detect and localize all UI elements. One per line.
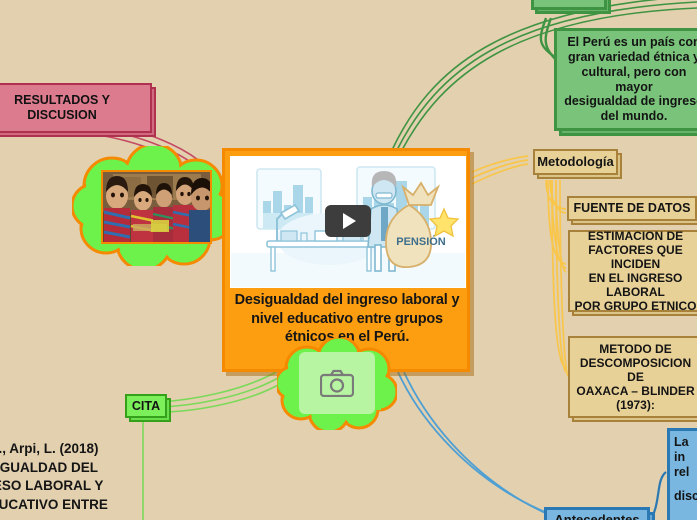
svg-text:PENSIÓN: PENSIÓN <box>396 235 446 248</box>
connector-metodologia-fuente <box>546 180 566 213</box>
blue-note-line-2: in <box>674 450 685 465</box>
antecedentes-label: Antecedentes <box>554 512 639 520</box>
connector-center-metodologia <box>472 156 528 184</box>
top-green-node[interactable] <box>531 0 607 10</box>
citation-line-4: L EDUCATIVO ENTRE <box>0 496 140 515</box>
play-icon[interactable] <box>325 205 371 237</box>
node-metodologia[interactable]: Metodología <box>533 149 618 175</box>
node-blue-note[interactable]: La in rel discr <box>667 428 697 520</box>
cloud-node-photo[interactable] <box>72 146 237 266</box>
estimacion-line-2: FACTORES QUE INCIDEN <box>573 243 697 271</box>
citation-line-1: i, R., Arpi, L. (2018) <box>0 440 140 459</box>
estimacion-line-1: ESTIMACION DE <box>588 229 683 243</box>
estimacion-line-4: POR GRUPO ETNICO <box>574 299 696 313</box>
statement-line-3: cultural, pero con mayor <box>562 65 697 95</box>
cita-label: CITA <box>132 399 160 414</box>
node-estimacion-factores[interactable]: ESTIMACION DE FACTORES QUE INCIDEN EN EL… <box>568 230 697 312</box>
node-antecedentes[interactable]: Antecedentes <box>544 507 650 520</box>
statement-line-1: El Perú es un país con <box>567 35 697 50</box>
cloud-node-image-placeholder[interactable] <box>277 338 397 430</box>
connector-center-cita <box>160 372 280 412</box>
connector-center-antecedentes <box>398 372 552 516</box>
classroom-photo-image <box>103 172 210 242</box>
blue-note-line-1: La <box>674 435 689 450</box>
oaxaca-line-3: OAXACA – BLINDER <box>576 384 694 398</box>
mindmap-canvas[interactable]: RESULTADOS Y DISCUSION <box>0 0 697 520</box>
citation-line-3: GRESO LABORAL Y <box>0 477 140 496</box>
fuente-label: FUENTE DE DATOS <box>574 201 691 216</box>
statement-line-2: gran variedad étnica y <box>568 50 697 65</box>
blue-note-line-5: discr <box>674 489 697 504</box>
video-thumbnail[interactable]: PENSIÓN <box>230 156 466 288</box>
oaxaca-line-4: (1973): <box>616 398 655 412</box>
citation-text: i, R., Arpi, L. (2018) ESIGUALDAD DEL GR… <box>0 440 140 515</box>
estimacion-line-3: EN EL INGRESO LABORAL <box>573 271 697 299</box>
node-statement-peru[interactable]: El Perú es un país con gran variedad étn… <box>554 28 697 131</box>
metodologia-label: Metodología <box>537 154 614 169</box>
statement-line-4: desigualdad de ingreso <box>564 94 697 109</box>
blue-note-line-3: rel <box>674 465 689 480</box>
node-metodo-oaxaca-blinder[interactable]: METODO DE DESCOMPOSICION DE OAXACA – BLI… <box>568 336 697 418</box>
resultados-label: RESULTADOS Y DISCUSION <box>0 93 144 123</box>
camera-icon <box>320 369 354 397</box>
connector-metodologia-estimacion <box>548 180 566 272</box>
classroom-photo <box>101 170 212 244</box>
image-placeholder-inner <box>299 352 375 414</box>
node-cita[interactable]: CITA <box>125 394 167 418</box>
statement-line-5: del mundo. <box>601 109 668 124</box>
node-fuente-de-datos[interactable]: FUENTE DE DATOS <box>567 196 697 221</box>
connector-metodologia-oaxaca <box>552 180 568 376</box>
oaxaca-line-2: DESCOMPOSICION DE <box>573 356 697 384</box>
citation-line-2: ESIGUALDAD DEL <box>0 459 140 478</box>
node-resultados-discusion[interactable]: RESULTADOS Y DISCUSION <box>0 83 152 133</box>
oaxaca-line-1: METODO DE <box>599 342 671 356</box>
